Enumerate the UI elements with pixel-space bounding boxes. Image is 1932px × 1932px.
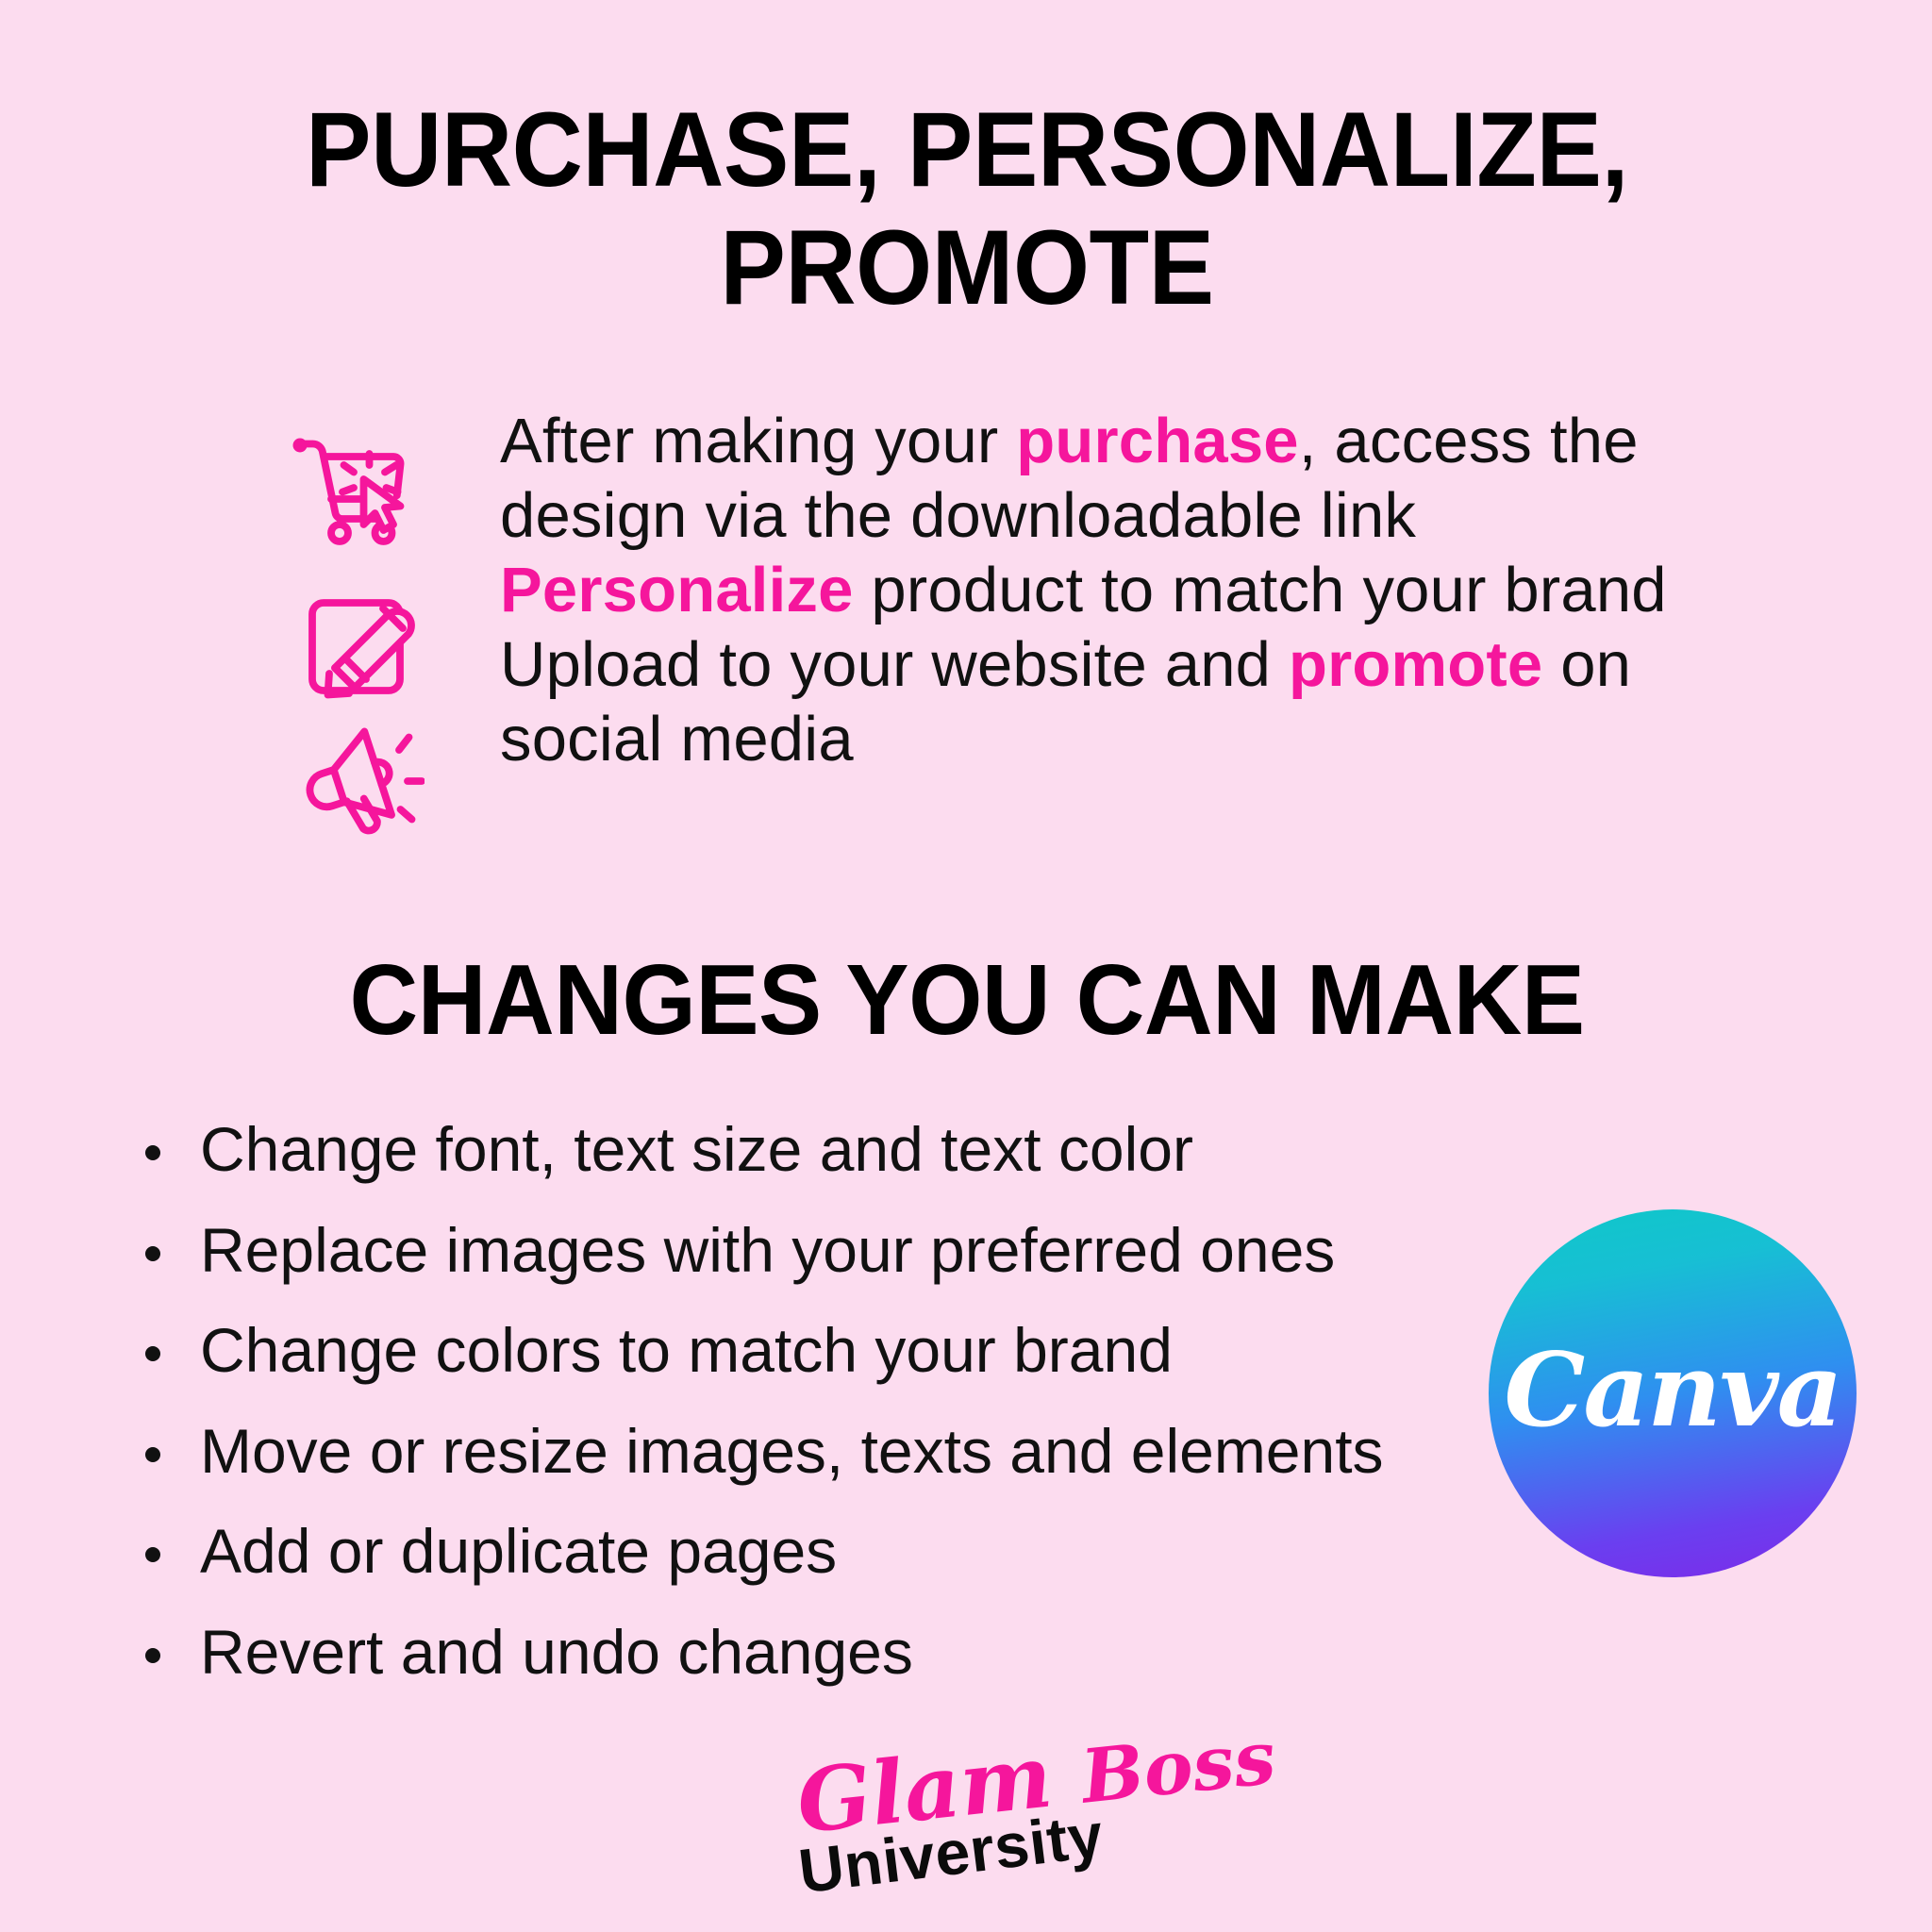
- list-item: Add or duplicate pages: [132, 1515, 1434, 1588]
- step-line-promote: Upload to your website and promote on: [500, 627, 1726, 702]
- steps-section: After making your purchase, access the d…: [283, 404, 1726, 776]
- list-item: Change font, text size and text color: [132, 1113, 1434, 1186]
- changes-list: Change font, text size and text color Re…: [132, 1113, 1434, 1716]
- canva-wordmark: Canva: [1489, 1209, 1857, 1577]
- canva-logo-badge: Canva: [1489, 1209, 1857, 1577]
- step-text-column: After making your purchase, access the d…: [500, 404, 1726, 776]
- step-text: , access the: [1299, 406, 1639, 476]
- step-line-purchase: After making your purchase, access the: [500, 404, 1726, 478]
- highlight-promote: promote: [1289, 629, 1542, 700]
- step-text: on: [1542, 629, 1631, 700]
- poster-canvas: PURCHASE, PERSONALIZE, PROMOTE: [0, 0, 1932, 1932]
- brand-logo: Glam Boss University: [0, 1726, 1932, 1915]
- list-item: Move or resize images, texts and element…: [132, 1415, 1434, 1488]
- shopping-cart-click-icon: [283, 417, 425, 558]
- megaphone-icon: [283, 708, 425, 849]
- step-text: product to match your brand: [854, 555, 1667, 625]
- page-title: PURCHASE, PERSONALIZE, PROMOTE: [217, 91, 1717, 327]
- step-line-personalize: Personalize product to match your brand: [500, 553, 1726, 627]
- highlight-personalize: Personalize: [500, 555, 854, 625]
- section-title: CHANGES YOU CAN MAKE: [201, 943, 1734, 1058]
- pencil-edit-square-icon: [292, 572, 434, 713]
- step-line-purchase-cont: design via the downloadable link: [500, 478, 1726, 553]
- list-item: Change colors to match your brand: [132, 1314, 1434, 1387]
- step-text: Upload to your website and: [500, 629, 1289, 700]
- step-text: After making your: [500, 406, 1016, 476]
- step-line-promote-cont: social media: [500, 702, 1726, 776]
- highlight-purchase: purchase: [1016, 406, 1299, 476]
- brand-logo-boss: Boss: [1077, 1715, 1279, 1821]
- list-item: Revert and undo changes: [132, 1616, 1434, 1689]
- list-item: Replace images with your preferred ones: [132, 1214, 1434, 1287]
